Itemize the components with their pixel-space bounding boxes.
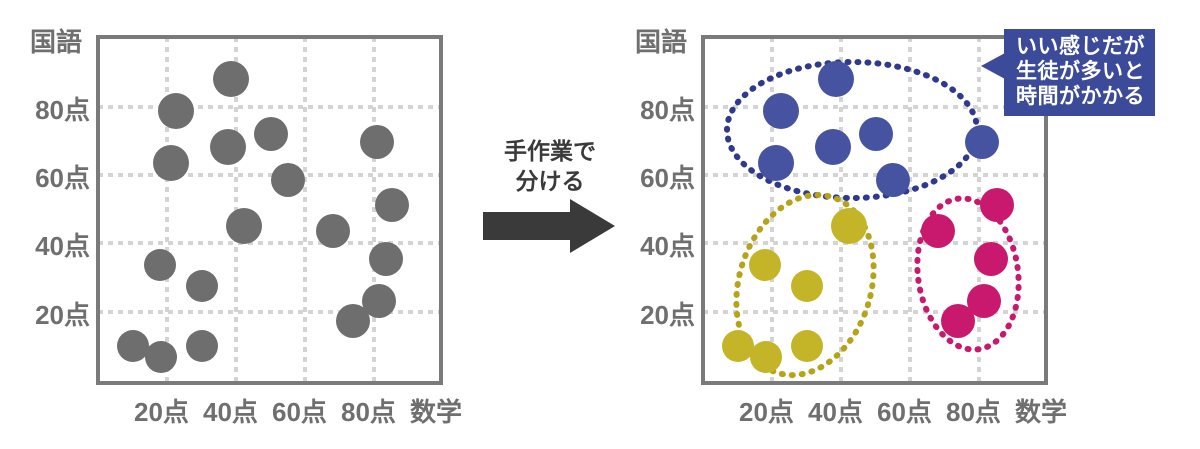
x-tick-20: 20点 — [134, 392, 189, 429]
callout-tail-icon — [981, 53, 1005, 79]
callout-line-1: いい感じだが — [1016, 35, 1145, 60]
figure-root: 国語 80点 60点 40点 20点 — [0, 0, 1200, 449]
chart-after: 国語 80点 60点 40点 20点 — [630, 0, 1200, 449]
callout-box: いい感じだが 生徒が多いと 時間がかかる — [1004, 29, 1155, 116]
callout-line-2: 生徒が多いと — [1016, 60, 1145, 85]
plot-area-before — [0, 0, 470, 400]
x-tick-80: 80点 — [341, 392, 396, 429]
x-tick-40: 40点 — [203, 392, 258, 429]
x-tick-20-after: 20点 — [739, 392, 794, 429]
right-arrow-icon — [470, 0, 630, 300]
transition-block: 手作業で 分ける — [470, 0, 630, 449]
x-tick-60: 60点 — [272, 392, 327, 429]
x-axis-title: 数学 — [410, 392, 462, 429]
callout-line-3: 時間がかかる — [1016, 85, 1145, 110]
x-tick-40-after: 40点 — [808, 392, 863, 429]
x-axis-title-after: 数学 — [1015, 392, 1067, 429]
x-tick-60-after: 60点 — [877, 392, 932, 429]
chart-before: 国語 80点 60点 40点 20点 — [0, 0, 470, 449]
x-tick-80-after: 80点 — [946, 392, 1001, 429]
